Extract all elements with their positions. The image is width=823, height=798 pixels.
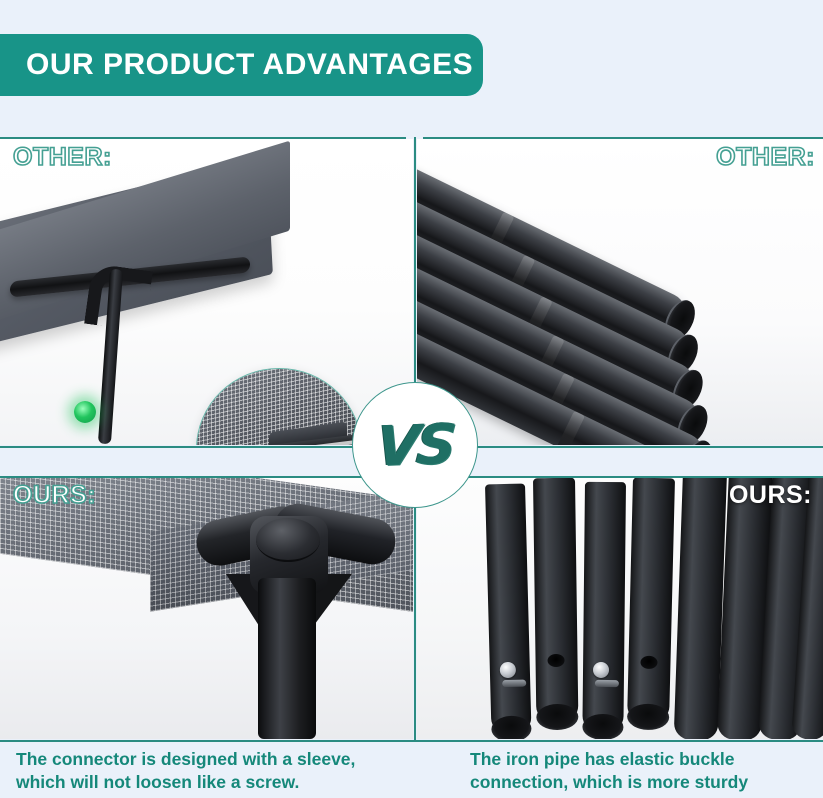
pipe-open-end	[536, 704, 578, 731]
buckle-hole	[640, 656, 657, 669]
highlight-dot-icon	[74, 401, 96, 423]
pipe-joint-band	[557, 411, 585, 445]
pipe-buckle-2	[533, 478, 578, 722]
header-banner: OUR PRODUCT ADVANTAGES	[0, 34, 483, 96]
elastic-buckle-button	[593, 662, 609, 678]
vs-label: VS	[375, 412, 456, 479]
panel-ours-connector	[0, 478, 413, 739]
connector-photo	[0, 478, 413, 739]
label-other-top-left: OTHER:	[13, 143, 112, 172]
buckle-pipes-photo	[417, 478, 823, 739]
panel-other-pipes	[417, 139, 823, 445]
divider-bottom	[0, 740, 823, 742]
cot-photo	[0, 139, 413, 445]
plain-pipes-photo	[417, 139, 823, 445]
label-ours-bottom-right: OURS:	[729, 481, 812, 510]
magnifier-callout	[196, 368, 362, 445]
buckle-spring-tail	[595, 680, 619, 687]
buckle-spring-tail	[502, 680, 526, 688]
pipe-buckle-3	[582, 482, 626, 732]
label-other-top-right: OTHER:	[716, 143, 815, 172]
pipe-open-end	[491, 715, 532, 739]
caption-left: The connector is designed with a sleeve,…	[16, 748, 416, 794]
pipe-open-end	[582, 714, 623, 739]
panel-ours-buckle-pipes	[417, 478, 823, 739]
pipe-open-end	[627, 703, 670, 730]
label-ours-bottom-left: OURS:	[13, 481, 96, 510]
advertisement-page: OUR PRODUCT ADVANTAGES OTHER:	[0, 0, 823, 798]
panel-other-cot	[0, 139, 413, 445]
connector-sleeve-cap	[256, 518, 320, 562]
page-title: OUR PRODUCT ADVANTAGES	[26, 48, 473, 82]
caption-right: The iron pipe has elastic buckle connect…	[470, 748, 820, 794]
vs-badge: VS	[352, 382, 478, 508]
buckle-hole	[547, 654, 564, 667]
pipe-buckle-4	[627, 478, 675, 722]
connector-leg	[258, 578, 316, 739]
elastic-buckle-button	[500, 662, 516, 678]
pipe-buckle-1	[485, 483, 532, 734]
